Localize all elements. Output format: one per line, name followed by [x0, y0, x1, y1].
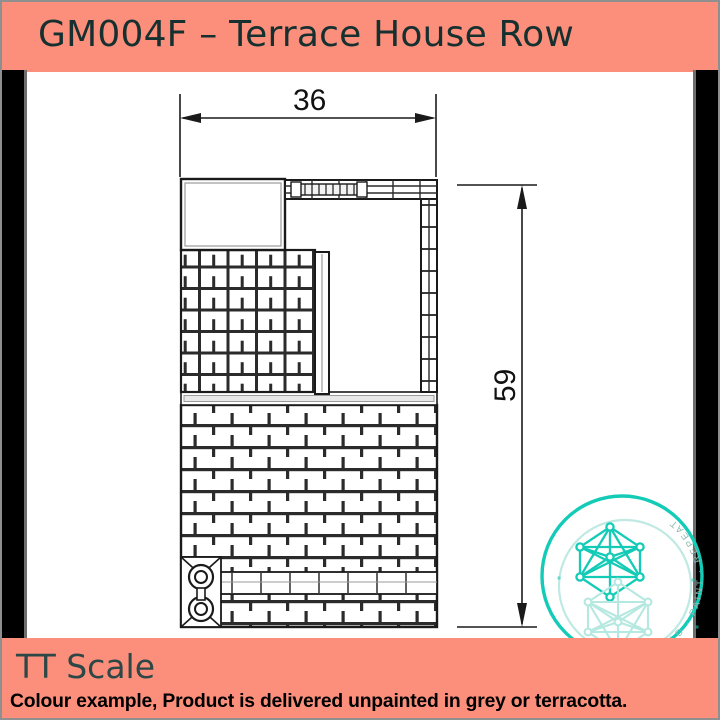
dimension-arrow-right	[415, 113, 436, 123]
party-wall-post	[315, 252, 329, 394]
right-black-bar	[696, 70, 718, 640]
recessed-panel	[181, 179, 285, 250]
string-course-band	[181, 392, 437, 405]
technical-drawing	[27, 72, 697, 644]
header-banner: GM004F – Terrace House Row	[2, 2, 718, 72]
ridge-detail	[291, 182, 367, 197]
page-title: GM004F – Terrace House Row	[38, 14, 574, 55]
right-brick-return	[421, 199, 437, 392]
dimension-arrow-top	[517, 185, 527, 209]
dimension-arrow-bottom	[517, 603, 527, 627]
downpipe-detail	[181, 557, 221, 627]
product-image-card: GM004F – Terrace House Row	[0, 0, 720, 720]
left-black-bar	[2, 70, 24, 640]
dimension-height	[457, 185, 537, 627]
scale-label: TT Scale	[16, 647, 155, 686]
plinth-course	[203, 572, 437, 594]
dimension-height-label: 59	[489, 369, 523, 402]
dimension-arrow-left	[180, 113, 201, 123]
upper-brick-wall	[181, 250, 315, 392]
dimension-width-label: 36	[293, 84, 326, 118]
disclaimer-text: Colour example, Product is delivered unp…	[10, 690, 627, 713]
